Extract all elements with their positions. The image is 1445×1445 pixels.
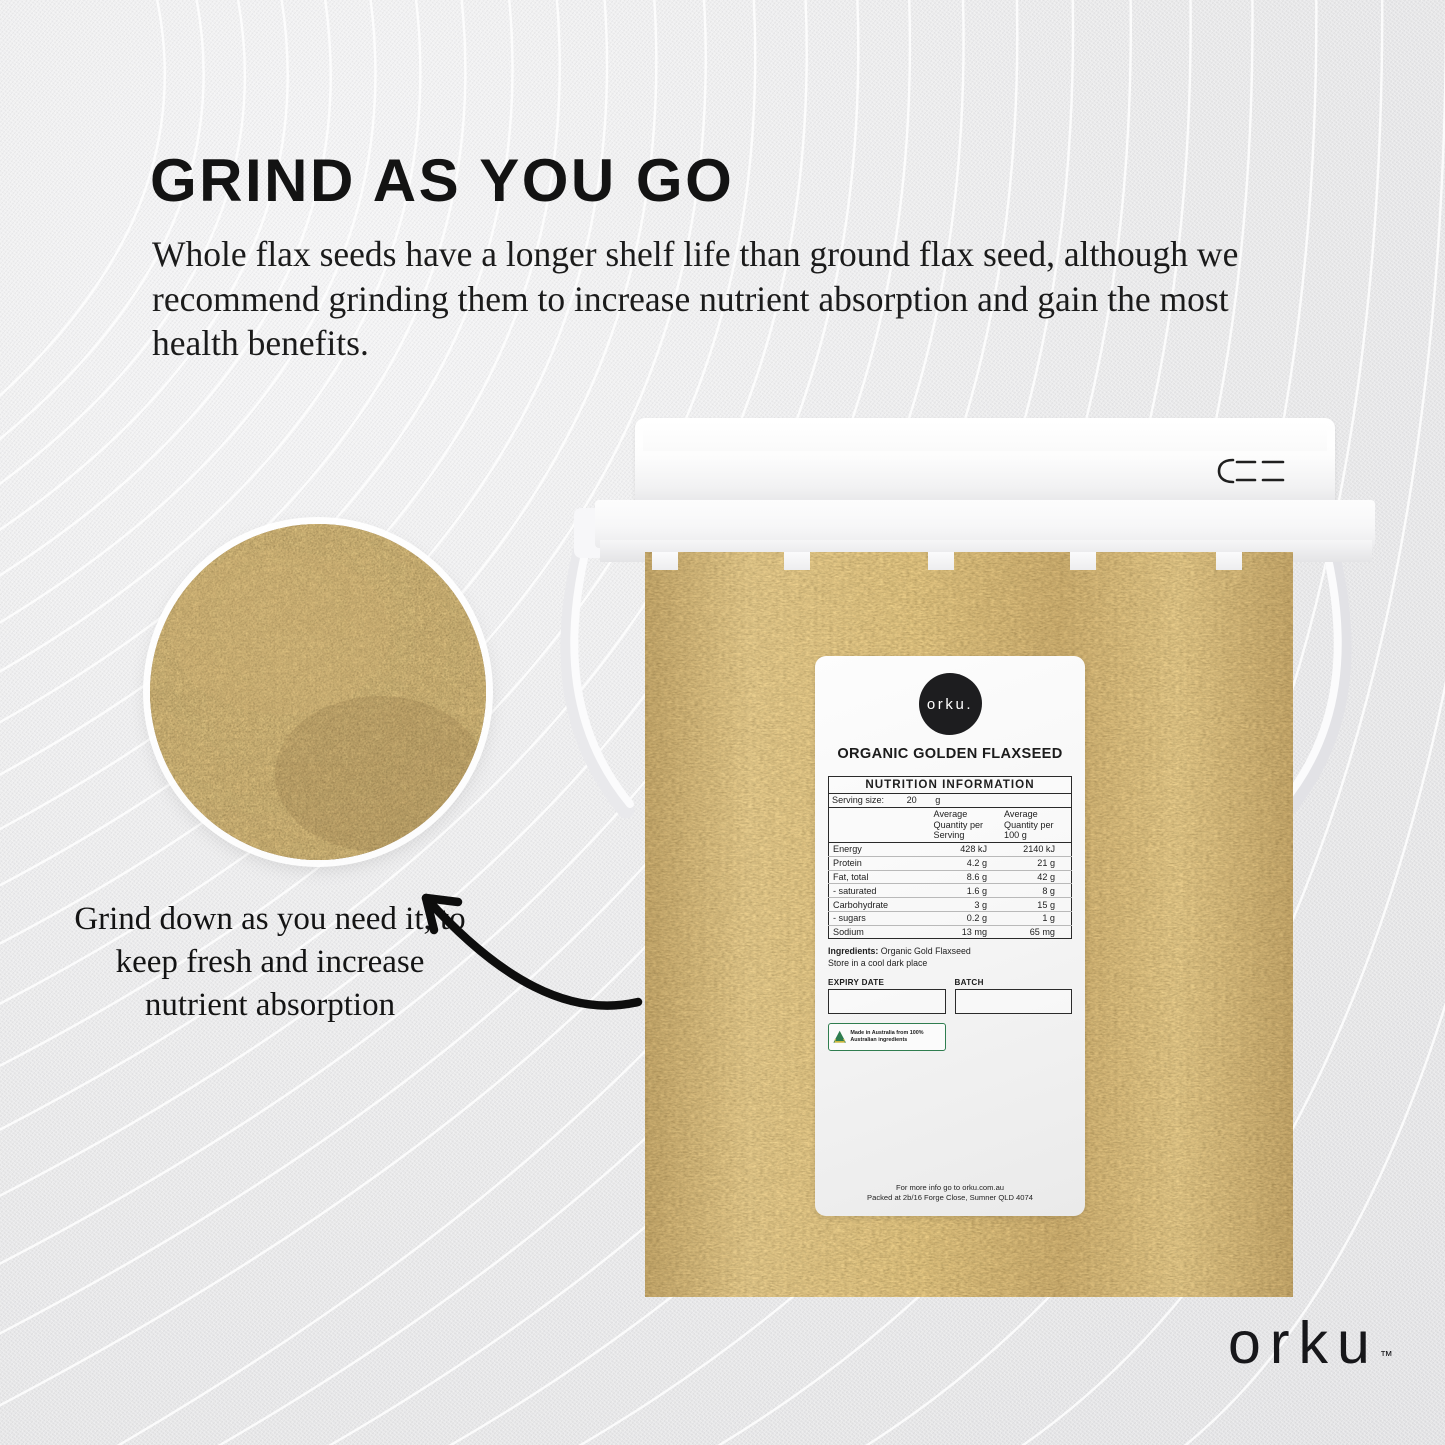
brand-logo: orku ™	[1228, 1318, 1393, 1368]
nutrient-per-serving: 0.2 g	[931, 911, 1001, 925]
batch-label: BATCH	[955, 978, 1073, 987]
lid-clip-icon	[1215, 456, 1291, 486]
serving-size-row: Serving size: 20 g	[829, 793, 1072, 807]
nutrient-per-100g: 1 g	[1001, 911, 1071, 925]
nutrient-per-100g: 21 g	[1001, 856, 1071, 870]
product-label: orku. ORGANIC GOLDEN FLAXSEED NUTRITION …	[815, 656, 1085, 1216]
intro-paragraph: Whole flax seeds have a longer shelf lif…	[152, 232, 1277, 366]
nutrient-per-100g: 65 mg	[1001, 925, 1071, 939]
nutrient-per-serving: 8.6 g	[931, 870, 1001, 884]
nutrition-title: NUTRITION INFORMATION	[829, 777, 1072, 794]
trademark-symbol: ™	[1380, 1348, 1393, 1363]
nutrition-information-table: NUTRITION INFORMATION Serving size: 20 g…	[828, 776, 1072, 939]
poster-canvas: GRIND AS YOU GO Whole flax seeds have a …	[0, 0, 1445, 1445]
brand-logo-wordmark: orku	[1228, 1318, 1379, 1368]
expiry-date-box[interactable]	[828, 989, 946, 1014]
nutrient-per-100g: 15 g	[1001, 898, 1071, 912]
column-header-100g: Average Quantity per 100 g	[1001, 807, 1071, 842]
label-footer: For more info go to orku.com.au Packed a…	[815, 1183, 1085, 1203]
rim-tab	[652, 552, 678, 570]
rim-tab	[1070, 552, 1096, 570]
kangaroo-triangle-icon	[832, 1026, 847, 1048]
nutrition-row: Carbohydrate3 g15 g	[829, 898, 1072, 912]
ground-flaxseed-photo	[150, 524, 486, 860]
page-title: GRIND AS YOU GO	[150, 146, 734, 215]
nutrient-per-serving: 3 g	[931, 898, 1001, 912]
brand-logo-badge: orku.	[919, 673, 982, 735]
rim-tab	[784, 552, 810, 570]
nutrient-per-100g: 42 g	[1001, 870, 1071, 884]
rim-tab	[1216, 552, 1242, 570]
storage-instructions: Store in a cool dark place	[828, 958, 1072, 970]
nutrient-per-100g: 2140 kJ	[1001, 842, 1071, 856]
brand-logo-text: orku.	[927, 696, 973, 713]
product-bucket: orku. ORGANIC GOLDEN FLAXSEED NUTRITION …	[540, 400, 1370, 1310]
lid-top-face	[643, 421, 1327, 451]
product-title: ORGANIC GOLDEN FLAXSEED	[828, 746, 1072, 762]
nutrition-row: Sodium13 mg65 mg	[829, 925, 1072, 939]
nutrient-per-serving: 428 kJ	[931, 842, 1001, 856]
nutrient-name: - saturated	[829, 884, 931, 898]
serving-size-value: 20	[907, 795, 917, 805]
australian-made-badge: Made in Australia from 100% Australian i…	[828, 1023, 946, 1051]
ingredients-label: Ingredients:	[828, 946, 878, 956]
ingredients-value: Organic Gold Flaxseed	[881, 946, 971, 956]
batch-field: BATCH	[955, 978, 1073, 1015]
nutrient-name: Energy	[829, 842, 931, 856]
label-fields: EXPIRY DATE BATCH	[828, 978, 1072, 1015]
rim-tab	[928, 552, 954, 570]
serving-size-unit: g	[935, 795, 940, 805]
label-footer-address: Packed at 2b/16 Forge Close, Sumner QLD …	[815, 1193, 1085, 1203]
label-footer-website: For more info go to orku.com.au	[815, 1183, 1085, 1193]
expiry-date-field: EXPIRY DATE	[828, 978, 946, 1015]
nutrient-per-serving: 1.6 g	[931, 884, 1001, 898]
nutrient-name: - sugars	[829, 911, 931, 925]
nutrition-row: - sugars0.2 g1 g	[829, 911, 1072, 925]
nutrient-per-serving: 4.2 g	[931, 856, 1001, 870]
nutrition-row: Energy428 kJ2140 kJ	[829, 842, 1072, 856]
nutrition-blank-header	[829, 807, 931, 842]
expiry-date-label: EXPIRY DATE	[828, 978, 946, 987]
serving-size-label: Serving size:	[832, 795, 884, 805]
nutrition-title-row: NUTRITION INFORMATION	[829, 777, 1072, 794]
nutrition-column-header-row: Average Quantity per Serving Average Qua…	[829, 807, 1072, 842]
nutrient-per-serving: 13 mg	[931, 925, 1001, 939]
nutrient-name: Carbohydrate	[829, 898, 931, 912]
nutrient-name: Fat, total	[829, 870, 931, 884]
nutrition-row: Protein4.2 g21 g	[829, 856, 1072, 870]
bucket-lid	[635, 418, 1335, 506]
australian-made-text: Made in Australia from 100% Australian i…	[850, 1030, 942, 1044]
nutrient-per-100g: 8 g	[1001, 884, 1071, 898]
nutrition-row: Fat, total8.6 g42 g	[829, 870, 1072, 884]
ingredients-block: Ingredients: Organic Gold Flaxseed Store…	[828, 946, 1072, 969]
nutrient-name: Protein	[829, 856, 931, 870]
column-header-serving: Average Quantity per Serving	[931, 807, 1001, 842]
nutrient-name: Sodium	[829, 925, 931, 939]
nutrition-row: - saturated1.6 g8 g	[829, 884, 1072, 898]
ground-flaxseed-speckle	[150, 524, 486, 860]
batch-box[interactable]	[955, 989, 1073, 1014]
nutrition-rows: Energy428 kJ2140 kJProtein4.2 g21 gFat, …	[829, 842, 1072, 938]
